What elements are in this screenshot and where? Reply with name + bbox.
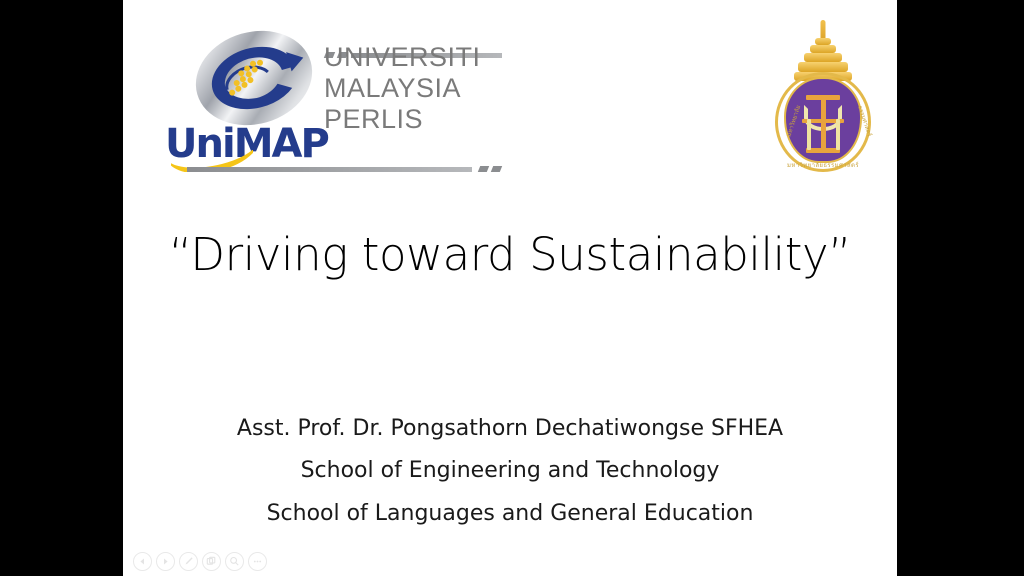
emblem-shield: มหาวิทยาลัย ธรรมศาสตร์ มหาวิทยาลัยธรรมศา… (775, 72, 871, 172)
unimap-logo: UniMAP UNIVERSITI MALAYSIA PERLIS (157, 24, 502, 184)
thai-text-right: ธรรมศาสตร์ (855, 104, 874, 138)
more-options-button[interactable] (248, 552, 267, 571)
unimap-wordmark: UniMAP (165, 124, 328, 164)
slide-canvas: UniMAP UNIVERSITI MALAYSIA PERLIS (123, 0, 897, 576)
unimap-line-malaysia: MALAYSIA (324, 73, 502, 104)
presenter-block: Asst. Prof. Dr. Pongsathorn Dechatiwongs… (123, 408, 897, 535)
rule-bar (187, 167, 472, 172)
rule-dash (491, 166, 502, 172)
presenter-affiliation-2: School of Languages and General Educatio… (123, 493, 897, 535)
wordmark-un: Un (165, 121, 222, 167)
wordmark-map: MAP (234, 121, 328, 167)
magnifier-icon (229, 556, 240, 567)
crown-tier (815, 38, 831, 45)
previous-slide-button[interactable] (133, 552, 152, 571)
thai-text-bottom: มหาวิทยาลัยธรรมศาสตร์ (787, 160, 859, 170)
presentation-viewer: UniMAP UNIVERSITI MALAYSIA PERLIS (0, 0, 1024, 576)
slide-overview-button[interactable] (202, 552, 221, 571)
chevron-right-icon (161, 557, 170, 566)
logo-rule-bottom (187, 166, 502, 173)
crown-tier (798, 62, 848, 72)
pen-annotate-button[interactable] (179, 552, 198, 571)
chevron-left-icon (138, 557, 147, 566)
zoom-button[interactable] (225, 552, 244, 571)
crown-tier (804, 53, 842, 62)
crown-tier (810, 45, 836, 53)
grid-icon (206, 556, 217, 567)
unimap-line-universiti: UNIVERSITI (324, 42, 502, 73)
rule-dash (478, 166, 489, 172)
presenter-affiliation-1: School of Engineering and Technology (123, 450, 897, 492)
slide-title: “Driving toward Sustainability” (123, 228, 897, 281)
thai-text-left: มหาวิทยาลัย (784, 104, 804, 138)
unimap-line-perlis: PERLIS (324, 104, 502, 135)
thammasat-university-emblem: มหาวิทยาลัย ธรรมศาสตร์ มหาวิทยาลัยธรรมศา… (767, 20, 879, 176)
unimap-name-lines: UNIVERSITI MALAYSIA PERLIS (324, 42, 502, 134)
wordmark-i: i (222, 121, 234, 167)
slide-navigation-toolbar[interactable] (133, 552, 267, 571)
next-slide-button[interactable] (156, 552, 175, 571)
pen-icon (183, 556, 194, 567)
unimap-swoosh-disc-icon (195, 32, 313, 124)
ellipsis-icon (252, 556, 263, 567)
presenter-name: Asst. Prof. Dr. Pongsathorn Dechatiwongs… (123, 408, 897, 450)
blue-spiral-arrow-icon (195, 32, 313, 124)
emblem-thai-text: มหาวิทยาลัย ธรรมศาสตร์ มหาวิทยาลัยธรรมศา… (775, 72, 871, 172)
